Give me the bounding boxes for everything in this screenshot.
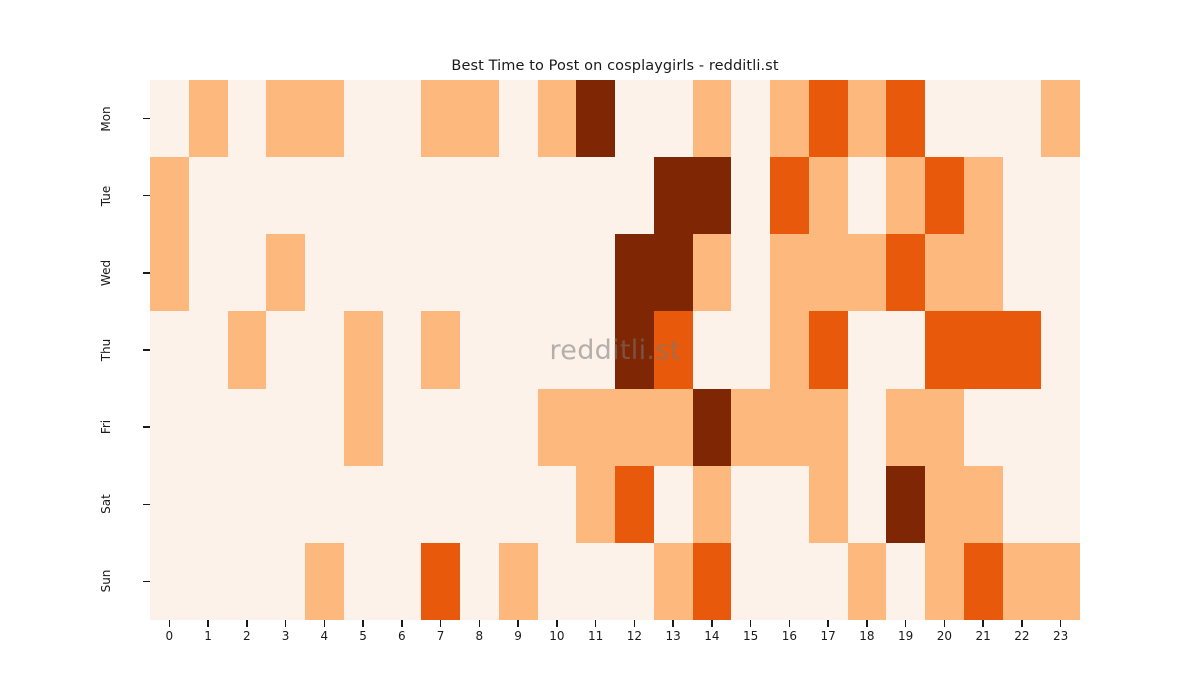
heatmap-cell [886,80,925,157]
heatmap-cell [383,389,422,466]
x-tick-mark [634,620,635,627]
heatmap-cell [150,466,189,543]
heatmap-cell [925,466,964,543]
heatmap-cell [654,80,693,157]
heatmap-cell [1003,311,1042,388]
heatmap-cell [1003,389,1042,466]
heatmap-cell [383,466,422,543]
heatmap-cell [886,543,925,620]
heatmap-cell [615,543,654,620]
heatmap-cell [383,234,422,311]
x-tick-label-0: 0 [150,629,189,643]
x-tick-label-20: 20 [925,629,964,643]
x-tick-label-5: 5 [344,629,383,643]
heatmap-cell [266,80,305,157]
heatmap-cell [1041,389,1080,466]
heatmap-cell [1003,157,1042,234]
x-tick-label-9: 9 [499,629,538,643]
x-tick-label-1: 1 [189,629,228,643]
heatmap-cell [421,157,460,234]
heatmap-cell [925,234,964,311]
heatmap-cell [770,80,809,157]
heatmap-cell [305,311,344,388]
heatmap-cell [925,157,964,234]
x-tick-mark [672,620,673,627]
heatmap-cell [848,311,887,388]
x-tick-mark [982,620,983,627]
heatmap-row-thu [150,311,1080,388]
heatmap-cell [848,543,887,620]
x-tick-label-17: 17 [809,629,848,643]
heatmap-cell [1041,311,1080,388]
heatmap-cell [615,311,654,388]
x-tick-label-13: 13 [654,629,693,643]
heatmap-cell [925,311,964,388]
y-tick-mark [143,581,150,582]
x-tick-mark [246,620,247,627]
x-tick-mark [556,620,557,627]
heatmap-cell [848,157,887,234]
heatmap-cell [538,389,577,466]
heatmap-cell [770,543,809,620]
heatmap-cell [344,543,383,620]
heatmap-cell [809,234,848,311]
heatmap-cell [228,80,267,157]
heatmap-cell [499,157,538,234]
heatmap-cell [1003,234,1042,311]
heatmap-cell [421,311,460,388]
x-tick-label-2: 2 [228,629,267,643]
heatmap-cell [383,543,422,620]
heatmap-cell [576,389,615,466]
y-tick-label-mon: Mon [98,89,114,149]
heatmap-cell [150,80,189,157]
heatmap-cell [150,543,189,620]
heatmap-cell [228,543,267,620]
y-tick-mark [143,272,150,273]
heatmap-cell [576,311,615,388]
heatmap-cell [615,234,654,311]
heatmap-cell [344,466,383,543]
heatmap-cell [421,466,460,543]
heatmap-cell [189,234,228,311]
heatmap-cell [964,311,1003,388]
heatmap-cell [886,466,925,543]
heatmap-row-tue [150,157,1080,234]
heatmap-cell [964,389,1003,466]
x-tick-mark [789,620,790,627]
heatmap-cell [228,466,267,543]
y-tick-label-sun: Sun [98,551,114,611]
x-tick-mark [1060,620,1061,627]
x-tick-mark [440,620,441,627]
heatmap-cell [615,389,654,466]
heatmap-cell [654,157,693,234]
heatmap-cell [150,311,189,388]
heatmap-cell [576,80,615,157]
heatmap-cell [654,543,693,620]
x-tick-label-4: 4 [305,629,344,643]
heatmap-row-sat [150,466,1080,543]
heatmap-cell [654,466,693,543]
y-tick-mark [143,195,150,196]
y-tick-mark [143,426,150,427]
heatmap-cell [266,157,305,234]
heatmap-row-mon [150,80,1080,157]
heatmap-cell [809,80,848,157]
heatmap-cell [421,234,460,311]
heatmap-cell [693,80,732,157]
heatmap-cell [693,311,732,388]
heatmap-cell [1003,466,1042,543]
heatmap-cell [925,389,964,466]
heatmap-cell [538,234,577,311]
x-tick-mark [595,620,596,627]
x-tick-mark [750,620,751,627]
heatmap-cell [925,80,964,157]
heatmap-cell [228,157,267,234]
heatmap-cell [383,311,422,388]
heatmap-cell [538,157,577,234]
heatmap-cell [964,466,1003,543]
heatmap-cell [809,311,848,388]
heatmap-cell [693,466,732,543]
x-tick-label-6: 6 [383,629,422,643]
heatmap-cell [576,157,615,234]
x-tick-mark [711,620,712,627]
heatmap-cell [848,466,887,543]
y-tick-label-fri: Fri [98,397,114,457]
heatmap-cell [654,389,693,466]
heatmap-cell [1041,80,1080,157]
heatmap-cell [964,157,1003,234]
heatmap-cell [731,389,770,466]
heatmap-row-wed [150,234,1080,311]
heatmap-plot-area [150,80,1080,620]
y-tick-mark [143,504,150,505]
heatmap-cell [1041,234,1080,311]
heatmap-cell [848,234,887,311]
heatmap-cell [770,389,809,466]
heatmap-cell [499,543,538,620]
heatmap-cell [460,543,499,620]
heatmap-cell [693,234,732,311]
heatmap-cell [421,80,460,157]
heatmap-cell [731,157,770,234]
x-tick-mark [362,620,363,627]
x-tick-mark [866,620,867,627]
heatmap-cell [693,157,732,234]
heatmap-cell [848,389,887,466]
heatmap-cell [150,389,189,466]
heatmap-cell [1003,80,1042,157]
heatmap-figure: Best Time to Post on cosplaygirls - redd… [0,0,1200,700]
x-tick-mark [944,620,945,627]
x-tick-mark [1021,620,1022,627]
x-tick-mark [479,620,480,627]
x-tick-label-15: 15 [731,629,770,643]
heatmap-row-fri [150,389,1080,466]
x-tick-mark [285,620,286,627]
heatmap-cell [305,80,344,157]
heatmap-cell [499,80,538,157]
x-tick-label-16: 16 [770,629,809,643]
heatmap-cell [305,543,344,620]
heatmap-cell [538,466,577,543]
heatmap-cell [886,234,925,311]
heatmap-cell [499,389,538,466]
y-axis: MonTueWedThuFriSatSun [0,80,150,620]
heatmap-cell [266,234,305,311]
heatmap-cell [848,80,887,157]
heatmap-cell [266,311,305,388]
x-tick-label-14: 14 [693,629,732,643]
x-tick-label-10: 10 [538,629,577,643]
heatmap-cell [576,234,615,311]
heatmap-cell [499,466,538,543]
heatmap-cell [266,543,305,620]
heatmap-cell [615,466,654,543]
heatmap-cell [731,543,770,620]
x-tick-mark [401,620,402,627]
heatmap-cell [964,234,1003,311]
heatmap-cell [770,234,809,311]
heatmap-cell [693,543,732,620]
heatmap-cell [266,389,305,466]
y-tick-mark [143,118,150,119]
heatmap-cell [615,157,654,234]
heatmap-cell [189,311,228,388]
x-tick-label-21: 21 [964,629,1003,643]
x-tick-mark [905,620,906,627]
heatmap-cell [499,311,538,388]
heatmap-cell [731,311,770,388]
x-tick-label-12: 12 [615,629,654,643]
heatmap-cell [344,157,383,234]
heatmap-cell [1041,466,1080,543]
x-tick-mark [517,620,518,627]
x-tick-label-23: 23 [1041,629,1080,643]
heatmap-cell [770,466,809,543]
heatmap-cell [189,389,228,466]
heatmap-cell [189,466,228,543]
heatmap-row-sun [150,543,1080,620]
heatmap-cell [964,543,1003,620]
heatmap-cell [576,543,615,620]
heatmap-cell [460,311,499,388]
heatmap-cell [460,389,499,466]
heatmap-cell [150,234,189,311]
y-tick-label-tue: Tue [98,166,114,226]
heatmap-cell [886,311,925,388]
heatmap-cell [809,157,848,234]
heatmap-cell [228,234,267,311]
heatmap-cell [809,389,848,466]
x-tick-label-7: 7 [421,629,460,643]
heatmap-cell [305,157,344,234]
heatmap-cell [266,466,305,543]
heatmap-cell [809,543,848,620]
heatmap-cell [421,389,460,466]
heatmap-cell [421,543,460,620]
heatmap-cell [383,80,422,157]
heatmap-cell [770,157,809,234]
chart-title: Best Time to Post on cosplaygirls - redd… [150,58,1080,74]
heatmap-cell [344,389,383,466]
heatmap-cell [693,389,732,466]
x-tick-mark [324,620,325,627]
y-tick-label-wed: Wed [98,243,114,303]
heatmap-cell [460,157,499,234]
x-tick-label-3: 3 [266,629,305,643]
heatmap-cell [731,80,770,157]
heatmap-cell [731,234,770,311]
x-tick-mark [207,620,208,627]
heatmap-cell [460,234,499,311]
heatmap-cell [150,157,189,234]
heatmap-cell [886,157,925,234]
heatmap-cell [344,311,383,388]
heatmap-cell [731,466,770,543]
x-tick-label-22: 22 [1003,629,1042,643]
heatmap-cell [460,80,499,157]
heatmap-cell [770,311,809,388]
heatmap-cell [305,466,344,543]
heatmap-cell [344,80,383,157]
heatmap-cell [576,466,615,543]
x-tick-mark [827,620,828,627]
heatmap-cell [615,80,654,157]
y-tick-label-thu: Thu [98,320,114,380]
heatmap-cell [189,543,228,620]
heatmap-cell [538,543,577,620]
heatmap-cell [383,157,422,234]
x-tick-mark [169,620,170,627]
heatmap-cell [886,389,925,466]
heatmap-cell [654,311,693,388]
heatmap-cell [1041,157,1080,234]
heatmap-cell [460,466,499,543]
x-tick-label-18: 18 [848,629,887,643]
heatmap-cell [1041,543,1080,620]
heatmap-cell [305,389,344,466]
heatmap-cell [809,466,848,543]
x-tick-label-8: 8 [460,629,499,643]
x-tick-label-19: 19 [886,629,925,643]
y-tick-mark [143,349,150,350]
heatmap-cell [538,80,577,157]
heatmap-cell [189,157,228,234]
heatmap-cell [964,80,1003,157]
heatmap-cell [538,311,577,388]
heatmap-cell [344,234,383,311]
heatmap-cell [925,543,964,620]
heatmap-cell [1003,543,1042,620]
heatmap-cell [228,311,267,388]
heatmap-cell [654,234,693,311]
x-tick-label-11: 11 [576,629,615,643]
x-axis: 01234567891011121314151617181920212223 [150,620,1080,660]
y-tick-label-sat: Sat [98,474,114,534]
heatmap-cell [228,389,267,466]
heatmap-cell [499,234,538,311]
heatmap-cell [189,80,228,157]
heatmap-cell [305,234,344,311]
